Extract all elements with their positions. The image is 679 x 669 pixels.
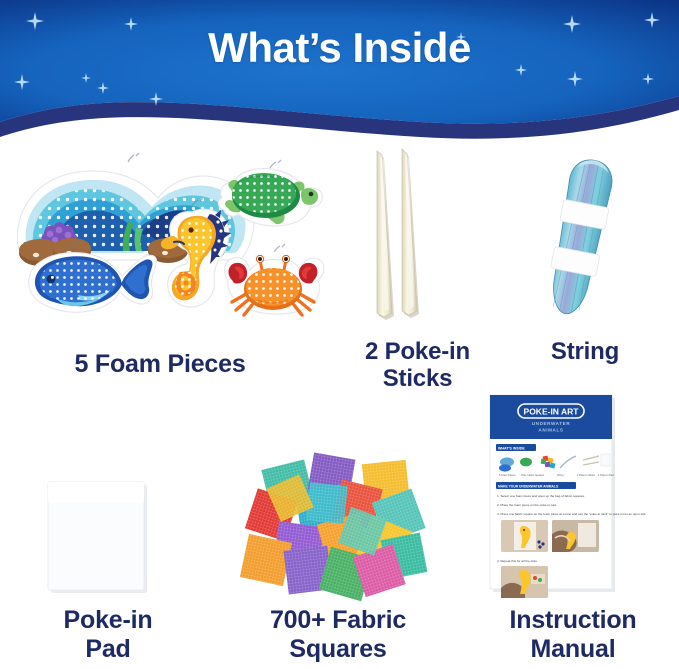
label-poke-in-sticks-line2: Sticks — [330, 365, 505, 392]
label-poke-in-pad-line1: Poke-in — [18, 606, 198, 635]
manual-thumb-label: 1 Poke-in Pad — [598, 474, 614, 477]
label-fabric-squares: 700+ Fabric Squares — [228, 606, 448, 663]
manual-photo-panel — [501, 566, 548, 598]
label-instruction-manual-line2: Manual — [468, 635, 678, 664]
label-string: String — [505, 338, 665, 365]
manual-step: 4. Repeat this for all the slots. — [497, 559, 538, 563]
instruction-manual-art: POKE-IN ART UNDERWATER ANIMALS WHAT'S IN… — [485, 392, 625, 597]
label-poke-in-sticks-line1: 2 Poke-in — [330, 338, 505, 365]
label-poke-in-sticks: 2 Poke-in Sticks — [330, 338, 505, 393]
manual-brand-subtitle-2: ANIMALS — [538, 428, 563, 433]
label-poke-in-pad: Poke-in Pad — [18, 606, 198, 663]
whats-inside-infographic: What’s Inside — [0, 0, 679, 669]
manual-thumb-label: 5 Foam Pieces — [499, 474, 516, 477]
poke-in-pad-art — [40, 478, 170, 598]
poke-in-stick — [402, 149, 419, 318]
manual-thumb-label: 700+ Fabric Squares — [521, 474, 545, 477]
page-title: What’s Inside — [0, 24, 679, 72]
manual-step: 2. Place the foam piece on the poke-in p… — [497, 503, 557, 507]
manual-brand-logo: POKE-IN ART — [518, 404, 584, 418]
manual-section-make-label: MAKE YOUR UNDERWATER ANIMALS — [498, 484, 559, 488]
manual-brand-title: POKE-IN ART — [524, 407, 580, 417]
string-art — [505, 145, 655, 330]
manual-section-whats-inside-label: WHAT'S INSIDE — [498, 446, 525, 450]
foam-piece-turtle — [218, 160, 322, 226]
manual-step: 3. Place one fabric square on the foam p… — [497, 512, 646, 516]
fabric-squares-art — [228, 440, 443, 605]
manual-thumb-label: String — [557, 474, 564, 477]
poke-in-stick — [377, 151, 394, 320]
manual-brand-subtitle-1: UNDERWATER — [532, 421, 571, 426]
foam-pieces-art — [0, 150, 330, 345]
string-skein — [543, 156, 618, 318]
manual-photo-panel — [501, 520, 548, 552]
label-fabric-squares-line1: 700+ Fabric — [228, 606, 448, 635]
label-fabric-squares-line2: Squares — [228, 635, 448, 664]
header-background — [0, 0, 679, 148]
label-instruction-manual: Instruction Manual — [468, 606, 678, 663]
label-poke-in-pad-line2: Pad — [18, 635, 198, 664]
poke-in-sticks-art — [355, 145, 455, 330]
header-banner: What’s Inside — [0, 0, 679, 148]
label-instruction-manual-line1: Instruction — [468, 606, 678, 635]
label-foam-pieces: 5 Foam Pieces — [10, 350, 310, 379]
manual-photo-panel — [552, 520, 599, 552]
manual-thumb-label: 2 Poke-in Sticks — [577, 474, 596, 477]
manual-step: 1. Select one foam piece and open up the… — [497, 494, 585, 498]
